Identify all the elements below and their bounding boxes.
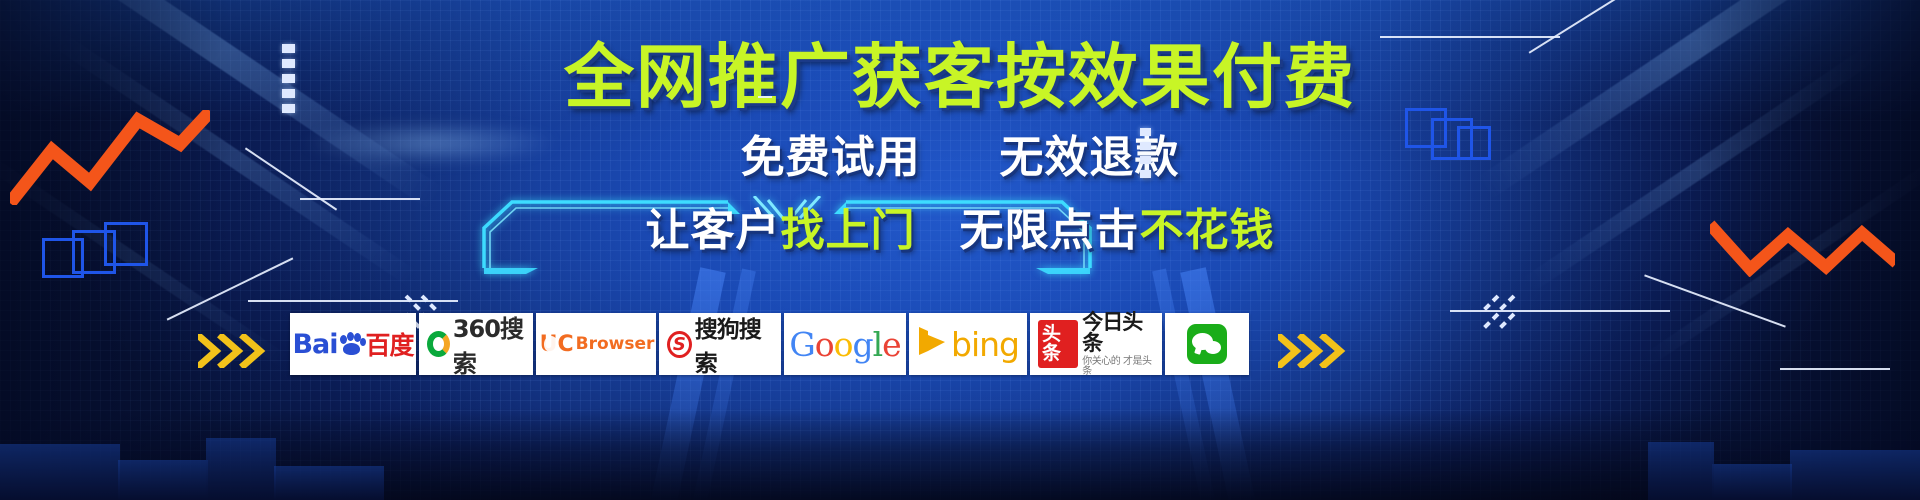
logo-wechat[interactable] [1165,313,1249,375]
tagline-row: 让客户找上门无限点击不花钱 [0,200,1920,264]
paw-icon [339,332,365,356]
promo-banner: 全网推广获客按效果付费 免费试用 无效退款 [0,0,1920,500]
connector-line [1450,310,1670,312]
toutiao-slogan: 你关心的 才是头条 [1082,357,1154,377]
tagline-seg1: 让客户 [646,205,781,256]
google-o1: o [815,325,834,364]
circle-icon [427,331,450,357]
logo-360-search[interactable]: 360搜索 [419,313,533,375]
wechat-bubbles-icon [1187,324,1227,364]
silhouette-block [274,466,384,500]
subheadline-part1: 免费试用 [741,132,921,183]
baidu-cn-text: 百度 [366,326,414,362]
gold-chevrons-right [1278,334,1364,368]
subheadline-part2: 无效退款 [999,132,1179,183]
google-g1: G [789,325,814,364]
connector-line [167,257,294,320]
silhouette-block [1712,464,1792,500]
dashed-chevron-icon [1474,292,1520,344]
page-title: 全网推广获客按效果付费 [0,42,1920,112]
logo-sogou-search[interactable]: S 搜狗搜索 [659,313,781,375]
v-beam-right [1180,267,1257,500]
baidu-bai-text: Bai [292,329,337,360]
tagline-seg4: 不花钱 [1140,205,1275,256]
logo-bing[interactable]: bing [909,313,1027,375]
tagline-bracket: 让客户找上门无限点击不花钱 [620,200,1301,264]
logo-360-label: 360搜索 [453,309,525,379]
subheadline: 免费试用 无效退款 [0,136,1920,180]
silhouette-block [0,444,120,500]
connector-line [1644,274,1786,327]
connector-line [1780,368,1890,370]
logo-baidu[interactable]: Bai 百度 [290,313,416,375]
bottom-silhouette [0,408,1920,500]
logo-bing-label: bing [951,325,1019,364]
silhouette-block [1790,450,1920,500]
connector-line [248,300,458,302]
silhouette-block [1648,442,1714,500]
silhouette-block [206,438,276,500]
logo-google[interactable]: Google [784,313,906,375]
google-l: l [873,325,883,364]
sogou-s-icon: S [667,331,692,358]
google-o2: o [834,325,853,364]
google-e: e [882,325,901,364]
partner-logo-strip: Bai 百度 360搜索 UC Browser S 搜狗搜索 [290,313,1249,375]
logo-sogou-label: 搜狗搜索 [695,310,773,378]
tagline-seg2: 找上门 [781,205,916,256]
silhouette-block [118,460,208,500]
connector-line [1380,36,1560,38]
gold-chevrons-left [198,334,284,368]
logo-uc-browser[interactable]: UC Browser [536,313,656,375]
logo-toutiao[interactable]: 头条 今日头条 你关心的 才是头条 [1030,313,1162,375]
tagline: 让客户找上门无限点击不花钱 [646,208,1275,254]
google-g2: g [852,325,872,364]
bing-logo-icon [917,325,947,363]
logo-uc-label2: Browser [576,334,655,354]
toutiao-badge: 头条 [1038,320,1078,368]
tagline-seg3: 无限点击 [960,205,1140,256]
toutiao-title: 今日头条 [1082,312,1154,354]
